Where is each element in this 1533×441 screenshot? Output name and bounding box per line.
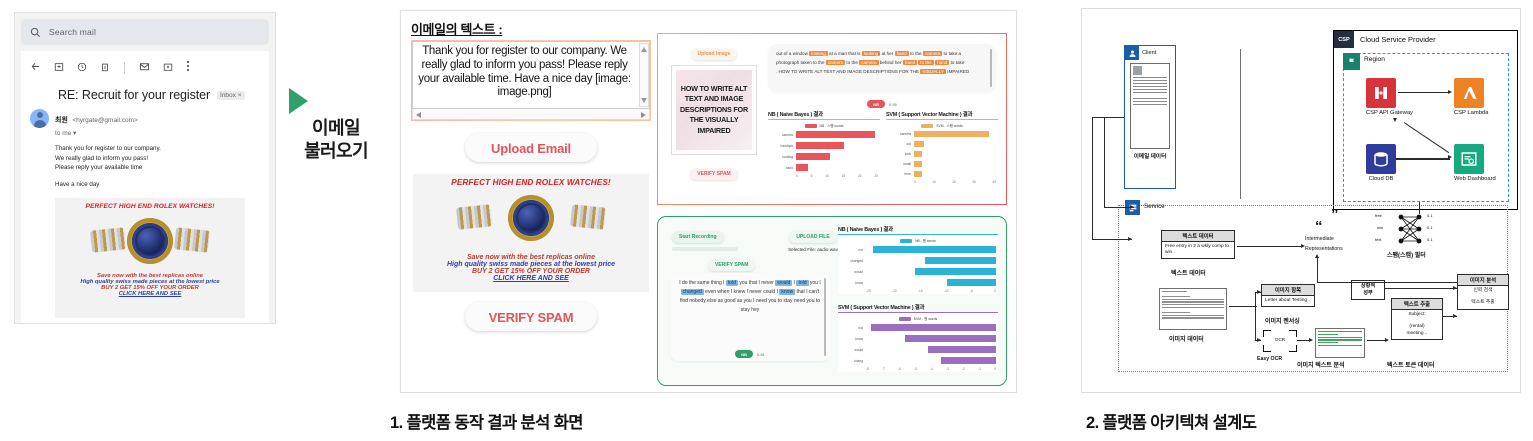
spam-filter-network: free win text 0.1 0.1 0.1	[1387, 212, 1447, 246]
image-analysis-header: 이미지 분석	[1458, 275, 1508, 286]
flow-label-line-2: 불러오기	[280, 140, 392, 163]
caption-architecture: 2. 플랫폼 아키텍쳐 설계도	[1086, 409, 1256, 433]
ocr-label: OCR	[1263, 337, 1297, 342]
client-label: Client	[1139, 46, 1175, 60]
audio-verify-spam-button[interactable]: VERIFY SPAM	[708, 259, 755, 271]
bar-label: looking	[770, 155, 796, 159]
axis-tick: 5	[811, 174, 813, 178]
axis-tick: 15	[842, 174, 846, 178]
bar-label: here	[888, 172, 914, 176]
sender-name: 최원	[55, 117, 68, 124]
image-result-badge-row: NB 0.95	[768, 100, 996, 108]
legend-swatch	[805, 124, 817, 128]
bar-label: would	[840, 348, 866, 352]
play-triangle-icon	[289, 88, 308, 114]
ad-line-1: Save now with the best replicas online	[416, 254, 646, 261]
caption-platform-result: 1. 플랫폼 동작 결과 분석 화면	[390, 409, 583, 433]
scroll-up-icon[interactable]	[641, 47, 647, 52]
text-data-box: 텍스트 데이터 Free entry in 2 a wkly comp to w…	[1161, 230, 1235, 259]
upload-file-button[interactable]: UPLOAD FILE	[789, 231, 836, 243]
bar-label: out	[888, 142, 914, 146]
scroll-right-icon[interactable]	[641, 112, 646, 118]
bar-label: hand/pix	[770, 144, 796, 148]
chart-svm-spam: SVM ( Support Vector Machine ) 결과 SVM - …	[886, 110, 998, 185]
node-web-dashboard: Web Dashboard	[1454, 144, 1496, 183]
email-sender-row: 최원 <hyrgate@gmail.com> to me ▾	[30, 109, 260, 137]
status-value: 0.95	[889, 102, 897, 107]
verify-spam-button[interactable]: VERIFY SPAM	[465, 302, 597, 331]
legend-label: SVM - 스팸 words	[936, 123, 963, 128]
node-lambda: CSP Lambda	[1454, 78, 1488, 117]
lambda-icon	[1454, 78, 1484, 108]
email-text-heading: 이메일의 텍스트 :	[411, 19, 651, 38]
legend-swatch	[900, 239, 912, 243]
context-line-2: 성부	[1363, 290, 1373, 296]
legend-label: NB - 햄 words	[915, 238, 936, 243]
upload-email-button[interactable]: Upload Email	[465, 133, 597, 162]
transcript-text: I do the same thing I told you that I ne…	[678, 279, 822, 315]
horizontal-scrollbar[interactable]	[412, 109, 650, 120]
ocr-result-text: out of a window looking at a man that is…	[776, 50, 988, 57]
delete-icon[interactable]	[100, 59, 110, 77]
bar-label: not	[840, 248, 866, 252]
bar-label: know	[840, 281, 866, 285]
axis-tick: 30	[972, 180, 976, 184]
nn-output-1: 0.1	[1427, 213, 1433, 218]
image-analysis-box: 이미지 분석 신뢰 검색 · 텍스트 추출	[1457, 274, 1509, 310]
client-email-thumbnail	[1130, 63, 1170, 149]
axis-tick: -7	[882, 367, 885, 371]
node-cloud-db: Cloud DB	[1366, 144, 1396, 183]
text-summary-line-4: meeting ..	[1406, 331, 1427, 336]
vertical-scrollbar[interactable]	[639, 43, 649, 107]
transcript-card: I do the same thing I told you that I ne…	[670, 273, 830, 361]
bar-label: chang	[840, 359, 866, 363]
image-text-caption: 이미지 텍스트 분석	[1297, 360, 1345, 369]
axis-tick: -25	[866, 289, 871, 293]
nn-input-1: free	[1375, 213, 1382, 218]
ad-line-3: BUY 2 GET 15% OFF YOUR ORDER	[416, 268, 646, 275]
rolex-watch-illustration	[85, 212, 215, 270]
email-body: Thank you for register to our company. W…	[30, 144, 260, 189]
bar-label: would	[840, 270, 866, 274]
mark-unread-icon[interactable]	[139, 59, 150, 77]
image-placeholder-icon	[1133, 66, 1142, 75]
client-caption: 이메일 데이터	[1125, 152, 1175, 160]
audio-analysis-card: Start Recording UPLOAD FILE Selected Fil…	[657, 216, 1007, 386]
scroll-left-icon[interactable]	[416, 112, 421, 118]
axis-tick: -4	[930, 367, 933, 371]
image-analysis-card: Upload Image HOW TO WRITE ALT TEXT AND I…	[657, 33, 1007, 205]
node-api-gateway: CSP API Gateway	[1366, 78, 1413, 117]
ad-line-4[interactable]: CLICK HERE AND SEE	[416, 275, 646, 282]
platform-spam-ad-image: PERFECT HIGH END ROLEX WATCHES! Save now…	[413, 174, 649, 292]
platform-result-screen: 이메일의 텍스트 : Thank you for register to our…	[400, 10, 1017, 393]
text-data-body: Free entry in 2 a wkly comp to win .	[1162, 242, 1234, 258]
bar-label: took	[888, 152, 914, 156]
axis-tick: 10	[825, 174, 829, 178]
platform-left-column: 이메일의 텍스트 : Thank you for register to our…	[411, 19, 651, 331]
chart-nb-spam: NB ( Naive Bayes ) 결과 NB - 스팸 words came…	[768, 110, 880, 179]
bar-label: small	[888, 162, 914, 166]
image-data-caption: 이미지 데이터	[1169, 334, 1204, 343]
image-ocr-caption: 이미지 렌서싱	[1265, 316, 1300, 325]
nn-input-2: win	[1377, 225, 1383, 230]
nn-input-3: text	[1375, 237, 1381, 242]
email-body-closing: Have a nice day	[55, 180, 260, 190]
node-label: CSP Lambda	[1454, 110, 1488, 117]
user-icon	[1125, 46, 1139, 60]
recording-progress-bar	[672, 247, 738, 251]
image-analysis-line-3: 텍스트 추출	[1471, 300, 1494, 305]
chart-nb-ham: NB ( Naive Bayes ) 결과 NB - 햄 words not c…	[838, 225, 998, 294]
axis-tick: -5	[970, 289, 973, 293]
bar-label: hand	[770, 166, 796, 170]
ocr-bracket: OCR	[1263, 330, 1297, 352]
dashboard-icon	[1454, 144, 1484, 174]
email-body-line-3: Please reply your available time	[55, 163, 260, 173]
legend-swatch	[921, 124, 933, 128]
legend-label: SVM - 햄 words	[914, 316, 937, 321]
axis-tick: 10	[932, 180, 936, 184]
gmail-toolbar	[30, 58, 260, 78]
text-summary-line-3: (rental)	[1409, 324, 1424, 329]
axis-tick: -15	[918, 289, 923, 293]
recipient-line[interactable]: to me ▾	[55, 129, 138, 137]
search-placeholder-text: Search mail	[49, 27, 96, 37]
email-text-area-wrapper: Thank you for register to our company. W…	[411, 40, 651, 121]
nn-output-3: 0.1	[1427, 237, 1433, 242]
image-analysis-line-2: ·	[1482, 294, 1484, 299]
axis-tick: 0	[994, 367, 996, 371]
legend-swatch	[899, 317, 911, 321]
axis-tick: -2	[962, 367, 965, 371]
status-badge: NB	[867, 100, 885, 108]
bar-label: not	[840, 326, 866, 330]
axis-tick: -10	[944, 289, 949, 293]
axis-tick: -3	[946, 367, 949, 371]
ocr-output-thumbnail	[1315, 328, 1365, 358]
axis-tick: -5	[914, 367, 917, 371]
gmail-message-pane: RE: Recruit for your register Inbox × 최원…	[21, 51, 269, 323]
api-gateway-icon	[1366, 78, 1396, 108]
text-summary-caption: 텍스트 토큰 데이터	[1387, 360, 1435, 369]
chart-svm-ham: SVM ( Support Vector Machine ) 결과 SVM - …	[838, 303, 998, 372]
more-options-icon[interactable]	[186, 59, 190, 77]
quote-close-icon: ”	[1331, 210, 1339, 221]
gmail-client-mock: Search mail	[14, 12, 276, 324]
search-mail-input[interactable]: Search mail	[21, 19, 269, 45]
bar-label: camera	[770, 133, 796, 137]
region-label: Region	[1364, 56, 1385, 63]
text-card-scrollbar[interactable]	[990, 49, 992, 87]
back-arrow-icon[interactable]	[30, 59, 41, 77]
axis-tick: 20	[858, 174, 862, 178]
spam-filter-caption: 스팸(스캠) 필터	[1387, 250, 1426, 259]
axis-tick: 20	[952, 180, 956, 184]
transcript-scrollbar[interactable]	[824, 278, 826, 356]
text-summary-box: 텍스트 추출 Subject: · (rental) meeting ..	[1391, 298, 1443, 340]
chart-title: SVM ( Support Vector Machine ) 결과	[838, 303, 998, 313]
ad-title: PERFECT HIGH END ROLEX WATCHES!	[416, 178, 646, 187]
start-recording-button[interactable]: Start Recording	[672, 231, 724, 243]
email-text-area[interactable]: Thank you for register to our company. W…	[412, 41, 650, 109]
nn-output-2: 0.1	[1427, 225, 1433, 230]
text-data-caption: 텍스트 데이터	[1171, 268, 1206, 277]
node-label: Web Dashboard	[1454, 176, 1496, 183]
axis-tick: 40	[992, 180, 996, 184]
status-badge: NB	[735, 350, 753, 358]
text-data-header: 텍스트 데이터	[1162, 231, 1234, 242]
image-ocr-box: 이미지 항목 Letter about Testing .	[1261, 284, 1315, 307]
bar-label: changed	[840, 259, 866, 263]
legend-label: NB - 스팸 words	[820, 123, 844, 128]
chart-title: SVM ( Support Vector Machine ) 결과	[886, 110, 998, 120]
ad-line-2: High quality swiss made pieces at the lo…	[416, 261, 646, 268]
image-ocr-body: Letter about Testing .	[1262, 296, 1314, 306]
scroll-down-icon[interactable]	[641, 98, 647, 103]
intermediate-line-1: Intermediate	[1305, 236, 1334, 242]
book-cover-text: HOW TO WRITE ALT TEXT AND IMAGE DESCRIPT…	[676, 84, 752, 136]
node-label: Cloud DB	[1366, 176, 1396, 183]
chart-title: NB ( Naive Bayes ) 결과	[768, 110, 880, 120]
axis-tick: -6	[898, 367, 901, 371]
uploaded-image-preview: HOW TO WRITE ALT TEXT AND IMAGE DESCRIPT…	[672, 66, 756, 154]
axis-tick: -20	[892, 289, 897, 293]
node-label: CSP API Gateway	[1366, 110, 1413, 117]
email-text-value: Thank you for register to our company. W…	[416, 45, 633, 100]
text-summary-line-1: Subject:	[1408, 312, 1425, 317]
intermediate-line-2: Representations	[1305, 246, 1343, 252]
email-subject-row: RE: Recruit for your register Inbox ×	[30, 88, 260, 102]
image-verify-spam-button[interactable]: VERIFY SPAM	[690, 168, 737, 180]
chart-title: NB ( Naive Bayes ) 결과	[838, 225, 998, 235]
toolbar-divider	[124, 62, 125, 74]
context-line-1: 상황적	[1361, 283, 1375, 289]
spam-advertisement-image: PERFECT HIGH END ROLEX WATCHES! Save now…	[55, 198, 245, 318]
bar-label: know	[840, 337, 866, 341]
csp-title: Cloud Service Provider	[1354, 31, 1517, 48]
email-body-line-1: Thank you for register to our company.	[55, 144, 260, 154]
email-subject: RE: Recruit for your register	[58, 88, 210, 102]
sender-email: <hyrgate@gmail.com>	[72, 117, 138, 124]
axis-tick: 25	[874, 174, 878, 178]
ad-title: PERFECT HIGH END ROLEX WATCHES!	[59, 203, 241, 210]
search-icon	[30, 27, 41, 38]
image-ocr-header: 이미지 항목	[1262, 285, 1314, 296]
avatar	[30, 109, 49, 128]
ocr-result-text-card: out of a window looking at a man that is…	[768, 44, 996, 92]
bar-label: camera	[888, 132, 914, 136]
text-summary-line-2: ·	[1416, 318, 1418, 323]
rolex-watch-illustration	[451, 189, 611, 251]
email-body-line-2: We really glad to inform you pass!	[55, 154, 260, 164]
client-box: Client 이메일 데이터	[1124, 45, 1176, 189]
inbox-label-chip[interactable]: Inbox ×	[217, 91, 245, 100]
axis-tick: 0	[994, 289, 996, 293]
flow-label-line-1: 이메일	[280, 117, 392, 140]
snooze-icon[interactable]	[77, 59, 87, 77]
axis-tick: 0	[914, 180, 916, 184]
service-label: Service	[1144, 203, 1165, 210]
image-data-thumbnail	[1159, 288, 1227, 330]
quote-open-icon: “	[1315, 222, 1323, 233]
region-flag-icon	[1343, 53, 1360, 70]
flow-label: 이메일 불러오기	[280, 117, 392, 163]
screenshot-root: Search mail	[0, 0, 1533, 441]
csp-tag: CSP	[1334, 31, 1354, 48]
move-to-icon[interactable]	[163, 59, 173, 77]
service-zone: Service 텍스트 데이터 Free entry in 2 a wkly c…	[1118, 205, 1508, 372]
region-box: Region CSP API Gateway CSP Lambda	[1343, 53, 1509, 202]
axis-tick: 0	[796, 174, 798, 178]
upload-image-button[interactable]: Upload Image	[691, 48, 738, 60]
status-value: 0.91	[757, 352, 765, 357]
axis-tick: -1	[978, 367, 981, 371]
axis-tick: -8	[866, 367, 869, 371]
archive-icon[interactable]	[54, 59, 64, 77]
cloud-service-provider-box: CSP Cloud Service Provider Region CSP AP…	[1333, 30, 1518, 210]
text-summary-header: 텍스트 추출	[1392, 299, 1442, 310]
ad-line-4[interactable]: CLICK HERE AND SEE	[59, 291, 241, 297]
architecture-diagram: CSP Cloud Service Provider Region CSP AP…	[1081, 8, 1521, 393]
database-icon	[1366, 144, 1396, 174]
image-analysis-line-1: 신뢰 검색	[1474, 288, 1493, 293]
ocr-caption: Easy OCR	[1257, 356, 1282, 362]
